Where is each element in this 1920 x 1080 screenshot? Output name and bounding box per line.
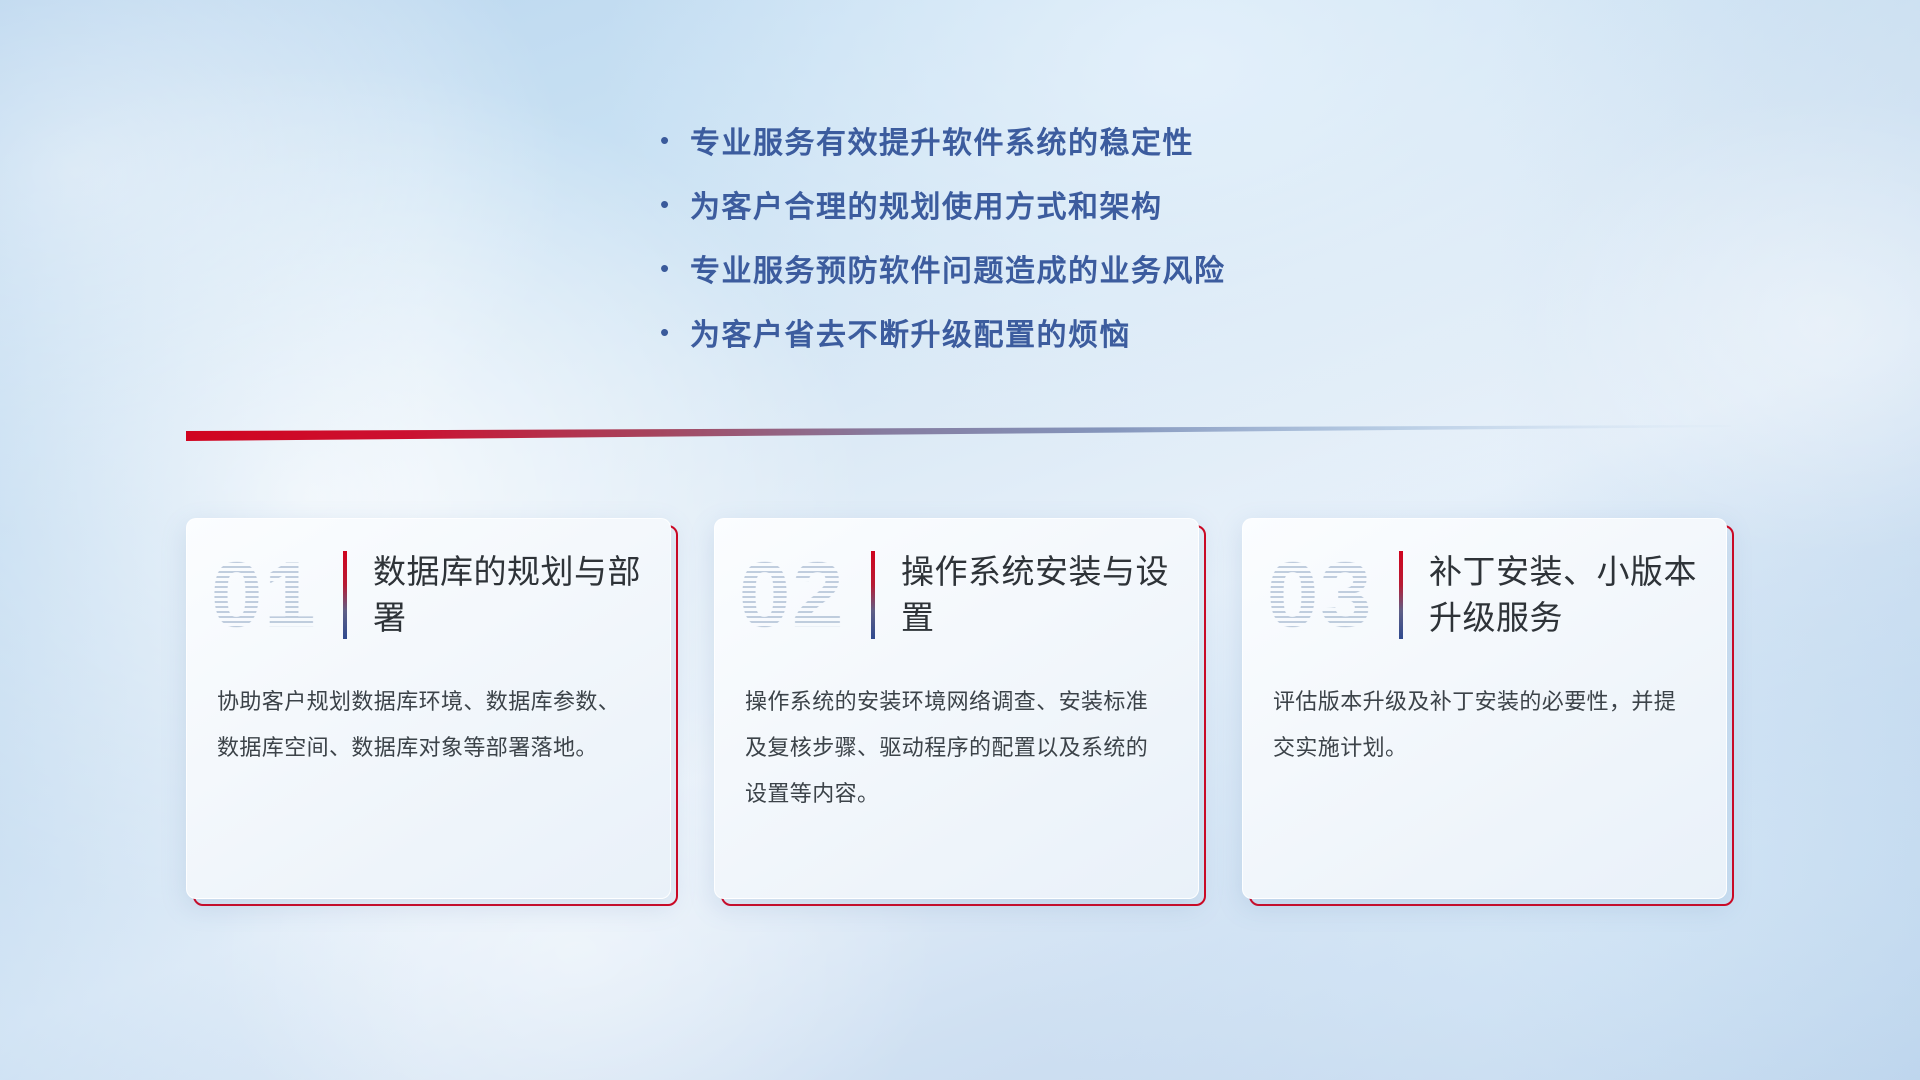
- card-surface: 01 数据库的规划与部署 协助客户规划数据库环境、数据库参数、数据库空间、数据库…: [186, 518, 671, 899]
- list-item: • 专业服务有效提升软件系统的稳定性: [660, 108, 1480, 172]
- bullet-text: 为客户合理的规划使用方式和架构: [690, 182, 1163, 226]
- card-title: 数据库的规划与部署: [373, 549, 643, 641]
- card-vertical-rule-icon: [343, 551, 347, 639]
- card-number: 01: [211, 541, 339, 649]
- card-description: 协助客户规划数据库环境、数据库参数、数据库空间、数据库对象等部署落地。: [187, 671, 670, 771]
- card-description: 操作系统的安装环境网络调查、安装标准及复核步骤、驱动程序的配置以及系统的设置等内…: [715, 671, 1198, 817]
- list-item: • 为客户合理的规划使用方式和架构: [660, 172, 1480, 236]
- list-item: • 为客户省去不断升级配置的烦恼: [660, 300, 1480, 364]
- card-description: 评估版本升级及补丁安装的必要性，并提交实施计划。: [1243, 671, 1726, 771]
- service-card-02[interactable]: 02 操作系统安装与设置 操作系统的安装环境网络调查、安装标准及复核步骤、驱动程…: [714, 518, 1206, 906]
- slide-canvas: • 专业服务有效提升软件系统的稳定性 • 为客户合理的规划使用方式和架构 • 专…: [0, 0, 1920, 1080]
- bullet-marker-icon: •: [660, 255, 690, 281]
- divider-shape-icon: [186, 425, 1731, 449]
- section-divider: [186, 425, 1731, 449]
- card-surface: 03 补丁安装、小版本升级服务 评估版本升级及补丁安装的必要性，并提交实施计划。: [1242, 518, 1727, 899]
- service-card-row: 01 数据库的规划与部署 协助客户规划数据库环境、数据库参数、数据库空间、数据库…: [186, 518, 1734, 918]
- card-surface: 02 操作系统安装与设置 操作系统的安装环境网络调查、安装标准及复核步骤、驱动程…: [714, 518, 1199, 899]
- benefits-bullet-list: • 专业服务有效提升软件系统的稳定性 • 为客户合理的规划使用方式和架构 • 专…: [660, 108, 1480, 364]
- card-number: 02: [739, 541, 867, 649]
- list-item: • 专业服务预防软件问题造成的业务风险: [660, 236, 1480, 300]
- bullet-marker-icon: •: [660, 319, 690, 345]
- card-header: 01 数据库的规划与部署: [187, 519, 670, 671]
- card-title: 补丁安装、小版本升级服务: [1429, 549, 1699, 641]
- bullet-marker-icon: •: [660, 191, 690, 217]
- bullet-text: 专业服务有效提升软件系统的稳定性: [690, 118, 1194, 162]
- service-card-01[interactable]: 01 数据库的规划与部署 协助客户规划数据库环境、数据库参数、数据库空间、数据库…: [186, 518, 678, 906]
- card-header: 03 补丁安装、小版本升级服务: [1243, 519, 1726, 671]
- card-number: 03: [1267, 541, 1395, 649]
- card-title: 操作系统安装与设置: [901, 549, 1171, 641]
- card-vertical-rule-icon: [871, 551, 875, 639]
- bullet-text: 专业服务预防软件问题造成的业务风险: [690, 246, 1226, 290]
- bullet-text: 为客户省去不断升级配置的烦恼: [690, 310, 1131, 354]
- bullet-marker-icon: •: [660, 127, 690, 153]
- service-card-03[interactable]: 03 补丁安装、小版本升级服务 评估版本升级及补丁安装的必要性，并提交实施计划。: [1242, 518, 1734, 906]
- card-vertical-rule-icon: [1399, 551, 1403, 639]
- card-header: 02 操作系统安装与设置: [715, 519, 1198, 671]
